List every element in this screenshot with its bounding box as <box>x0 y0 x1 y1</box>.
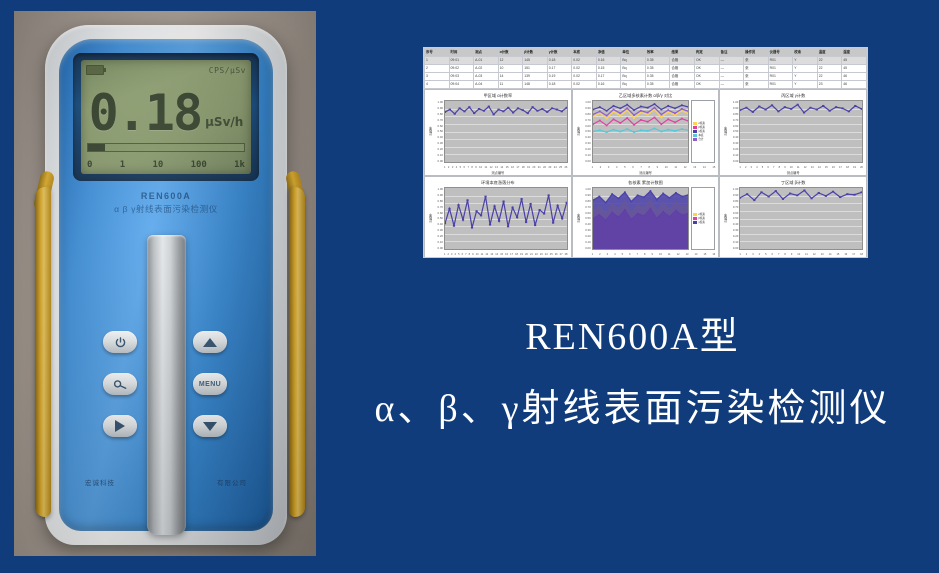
lcd-scale-tick: 1k <box>234 160 245 170</box>
x-tick: 16 <box>505 253 508 256</box>
chart-x-axis-label: 测点编号 <box>720 257 866 258</box>
x-tick: 11 <box>805 253 808 256</box>
y-tick: 0.20 <box>433 147 443 151</box>
legend-item: α核素 <box>693 122 713 125</box>
table-header-cell: 温度 <box>817 49 842 57</box>
x-tick: 7 <box>773 166 774 169</box>
table-cell: 22 <box>817 65 842 73</box>
table-cell: 0.02 <box>572 57 597 65</box>
y-tick: 0.10 <box>433 153 443 157</box>
x-tick: 10 <box>659 253 662 256</box>
x-tick: 20 <box>532 166 535 169</box>
table-cell: Bq <box>621 73 646 81</box>
table-cell: 09:03 <box>449 73 474 81</box>
y-tick: 0.40 <box>433 222 443 226</box>
chart-plot-area <box>739 187 863 250</box>
x-tick: 18 <box>860 253 863 256</box>
chart-panel[interactable]: 甲区域 α计数率计数率1.000.900.800.700.600.500.400… <box>424 89 572 176</box>
table-header-cell: 测点 <box>474 49 499 57</box>
triangle-down-icon <box>203 422 217 431</box>
table-cell: 合格 <box>670 81 695 89</box>
y-tick: 0.60 <box>433 211 443 215</box>
lcd-mode-text: CPS/μSv <box>209 66 246 75</box>
x-tick: 9 <box>657 166 658 169</box>
table-cell: 3 <box>425 73 450 81</box>
y-tick: 0.90 <box>728 106 738 110</box>
table-cell: 23 <box>817 81 842 89</box>
table-cell: 139 <box>523 73 548 81</box>
y-tick: 0.50 <box>581 216 591 220</box>
table-header-cell: 净值 <box>596 49 621 57</box>
lcd-unit: μSv/h <box>205 115 243 129</box>
device-model-area: REN600A α β γ射线表面污染检测仪 <box>59 191 273 215</box>
lcd-reading: 0.18 μSv/h <box>81 82 251 144</box>
x-tick: 15 <box>703 253 706 256</box>
chart-y-axis-label: 计数率 <box>723 100 728 163</box>
page-title: REN600A型 <box>330 318 935 356</box>
chart-y-axis-label: 计数率 <box>723 187 728 250</box>
product-photo: CPS/μSv 0.18 μSv/h 01101001k REN600A α β… <box>14 11 316 556</box>
chart-x-axis-label: 测点编号 <box>573 170 719 175</box>
x-tick: 11 <box>797 166 800 169</box>
chart-series-svg <box>740 101 862 162</box>
y-tick: 0.30 <box>728 228 738 232</box>
legend-label: α核素 <box>698 213 705 216</box>
x-tick: 14 <box>695 253 698 256</box>
table-cell: A-04 <box>474 81 499 89</box>
table-header-cell: 本底 <box>572 49 597 57</box>
y-tick: 0.10 <box>581 153 591 157</box>
table-cell: 0.35 <box>645 73 670 81</box>
table-cell: 0.35 <box>645 57 670 65</box>
x-tick: 3 <box>752 253 753 256</box>
up-button[interactable] <box>193 331 227 353</box>
x-tick: 17 <box>516 166 519 169</box>
x-tick: 24 <box>545 253 548 256</box>
chart-title: 各核素 累加计数图 <box>576 180 716 186</box>
table-cell: A-03 <box>474 73 499 81</box>
x-tick: 22 <box>535 253 538 256</box>
legend-swatch <box>693 126 697 129</box>
x-tick: 11 <box>674 166 677 169</box>
x-tick: 19 <box>527 166 530 169</box>
table-cell: 张 <box>744 65 769 73</box>
device-faceplate: CPS/μSv 0.18 μSv/h 01101001k REN600A α β… <box>59 39 273 531</box>
x-tick: 14 <box>495 253 498 256</box>
lcd-screen: CPS/μSv 0.18 μSv/h 01101001k <box>81 60 251 174</box>
brand-left-text: 宏诚科技 <box>85 477 115 487</box>
report-screenshot-panel: 序号时间测点α计数β计数γ计数本底净值单位效率结果判定备注操作员仪器号校准温度湿… <box>423 47 868 258</box>
x-tick: 18 <box>522 166 525 169</box>
table-row[interactable]: 209:02A-02101510.170.020.15Bq0.35合格OK—张R… <box>425 65 867 73</box>
table-cell: 0.02 <box>572 81 597 89</box>
y-tick: 0.40 <box>581 135 591 139</box>
chart-y-axis-label: 计数率 <box>428 100 433 163</box>
legend-swatch <box>693 217 697 220</box>
y-tick: 0.00 <box>433 159 443 163</box>
legend-label: β核素 <box>698 126 705 129</box>
legend-swatch <box>693 134 697 137</box>
chart-body: 计数率1.000.900.800.700.600.500.400.300.200… <box>428 100 568 163</box>
x-tick: 2 <box>448 166 449 169</box>
x-tick: 10 <box>665 166 668 169</box>
y-tick: 0.30 <box>728 141 738 145</box>
x-tick: 4 <box>759 253 760 256</box>
table-cell: 148 <box>523 81 548 89</box>
chart-panel[interactable]: 环境本底涨落分布计数率1.000.900.800.700.600.500.400… <box>424 176 572 258</box>
table-cell: 合格 <box>670 57 695 65</box>
table-row[interactable]: 309:03A-03141390.190.020.17Bq0.35合格OK—张R… <box>425 73 867 81</box>
x-tick: 2 <box>745 166 746 169</box>
table-cell: 4 <box>425 81 450 89</box>
x-tick: 2 <box>600 166 601 169</box>
lcd-scale-tick: 10 <box>152 160 163 170</box>
x-tick: 5 <box>622 253 623 256</box>
x-tick: 25 <box>559 166 562 169</box>
table-cell: R01 <box>768 81 793 89</box>
chart-plot-area <box>444 187 568 250</box>
legend-label: β核素 <box>698 217 705 220</box>
table-cell: 0.16 <box>596 81 621 89</box>
legend-swatch <box>693 138 697 141</box>
table-cell: 张 <box>744 73 769 81</box>
x-tick: 14 <box>500 166 503 169</box>
x-tick: 1 <box>444 253 445 256</box>
triangle-right-icon <box>115 420 125 432</box>
table-cell: 0.17 <box>547 65 572 73</box>
x-tick: 1 <box>444 166 445 169</box>
table-cell: 张 <box>744 81 769 89</box>
y-tick: 0.90 <box>581 106 591 110</box>
chart-y-axis-label: 计数率 <box>428 187 433 250</box>
table-cell: 45 <box>842 65 867 73</box>
y-tick: 0.00 <box>433 246 443 250</box>
x-tick: 13 <box>490 253 493 256</box>
table-header-cell: 仪器号 <box>768 49 793 57</box>
y-tick: 0.50 <box>433 129 443 133</box>
magnifier-icon <box>113 378 128 391</box>
table-row[interactable]: 109:01A-01121450.180.020.16Bq0.35合格OK—张R… <box>425 57 867 65</box>
device-model-description: α β γ射线表面污染检测仪 <box>59 203 273 215</box>
chart-plot-area <box>444 100 568 163</box>
lcd-status-bar: CPS/μSv <box>86 64 246 76</box>
table-cell: 09:01 <box>449 57 474 65</box>
x-tick: 17 <box>839 166 842 169</box>
x-tick: 26 <box>555 253 558 256</box>
chart-panel[interactable]: 各核素 累加计数图计数率1.000.900.800.700.600.500.40… <box>572 176 720 258</box>
y-tick: 0.80 <box>581 112 591 116</box>
x-tick: 24 <box>554 166 557 169</box>
search-button[interactable] <box>103 373 137 395</box>
y-tick: 0.20 <box>581 234 591 238</box>
title-block: REN600A型 α、β、γ射线表面污染检测仪 <box>330 318 935 428</box>
x-tick: 22 <box>543 166 546 169</box>
x-tick: 3 <box>607 253 608 256</box>
y-tick: 1.00 <box>728 100 738 104</box>
y-tick: 0.00 <box>728 159 738 163</box>
y-tick: 1.00 <box>433 100 443 104</box>
table-cell: 22 <box>817 73 842 81</box>
table-row[interactable]: 409:04A-04111480.180.020.16Bq0.35合格OK—张R… <box>425 81 867 89</box>
table-cell: A-02 <box>474 65 499 73</box>
table-cell: 10 <box>498 65 523 73</box>
x-tick: 3 <box>452 166 453 169</box>
chart-y-axis-label: 计数率 <box>576 187 581 250</box>
chart-body: 计数率1.000.900.800.700.600.500.400.300.200… <box>576 100 716 163</box>
chart-panel[interactable]: 丙区域 γ计数计数率1.000.900.800.700.600.500.400.… <box>719 89 867 176</box>
x-tick: 13 <box>821 253 824 256</box>
y-tick: 0.10 <box>728 240 738 244</box>
x-tick: 9 <box>791 253 792 256</box>
legend-label: α核素 <box>698 122 705 125</box>
x-tick: 10 <box>476 253 479 256</box>
chart-title: 丁区域 β计数 <box>723 180 863 186</box>
x-tick: 17 <box>852 253 855 256</box>
legend-item: 合计 <box>693 138 713 141</box>
y-tick: 0.00 <box>581 159 591 163</box>
legend-label: 本底 <box>698 134 703 137</box>
y-tick: 0.00 <box>728 246 738 250</box>
table-cell: A-01 <box>474 57 499 65</box>
table-cell: Y <box>793 57 818 65</box>
legend-label: 合计 <box>698 138 703 141</box>
y-tick: 0.50 <box>433 216 443 220</box>
x-tick: 12 <box>485 253 488 256</box>
y-tick: 0.30 <box>581 141 591 145</box>
x-tick: 9 <box>652 253 653 256</box>
x-tick: 8 <box>471 166 472 169</box>
x-tick: 2 <box>599 253 600 256</box>
lcd-scale-tick: 100 <box>191 160 207 170</box>
table-cell: 0.18 <box>547 81 572 89</box>
chart-body: 计数率1.000.900.800.700.600.500.400.300.200… <box>428 187 568 250</box>
table-cell: 45 <box>842 57 867 65</box>
chart-y-ticks: 1.000.900.800.700.600.500.400.300.200.10… <box>433 187 444 250</box>
table-header-cell: 单位 <box>621 49 646 57</box>
table-header-cell: γ计数 <box>547 49 572 57</box>
x-tick: 6 <box>462 253 463 256</box>
table-cell: 0.19 <box>547 73 572 81</box>
y-tick: 0.90 <box>433 106 443 110</box>
x-tick: 13 <box>686 253 689 256</box>
chart-series-svg <box>445 101 567 162</box>
x-tick: 15 <box>825 166 828 169</box>
table-cell: OK <box>695 65 720 73</box>
y-tick: 0.10 <box>728 153 738 157</box>
y-tick: 0.30 <box>433 228 443 232</box>
table-cell: 0.35 <box>645 65 670 73</box>
table-cell: 0.17 <box>596 73 621 81</box>
y-tick: 0.10 <box>433 240 443 244</box>
table-cell: 0.35 <box>645 81 670 89</box>
menu-button-label: MENU <box>199 381 221 388</box>
table-header-cell: 结果 <box>670 49 695 57</box>
y-tick: 0.70 <box>433 205 443 209</box>
x-tick: 10 <box>479 166 482 169</box>
lcd-bargraph-fill <box>88 144 105 151</box>
chart-panel[interactable]: 乙区域多核素计数 α/β/γ 对比计数率1.000.900.800.700.60… <box>572 89 720 176</box>
x-tick: 21 <box>530 253 533 256</box>
table-cell: 1 <box>425 57 450 65</box>
y-tick: 1.00 <box>581 187 591 191</box>
table-cell: — <box>719 73 744 81</box>
x-tick: 8 <box>469 253 470 256</box>
table-cell: — <box>719 81 744 89</box>
x-tick: 6 <box>629 253 630 256</box>
chart-title: 乙区域多核素计数 α/β/γ 对比 <box>576 93 716 99</box>
table-cell: 46 <box>842 81 867 89</box>
lcd-scale-tick: 0 <box>87 160 92 170</box>
x-tick: 11 <box>485 166 488 169</box>
x-tick: 1 <box>592 253 593 256</box>
x-tick: 23 <box>540 253 543 256</box>
x-tick: 18 <box>515 253 518 256</box>
chart-y-axis-label: 计数率 <box>576 100 581 163</box>
menu-button[interactable]: MENU <box>193 373 227 395</box>
y-tick: 0.80 <box>728 112 738 116</box>
x-tick: 15 <box>712 166 715 169</box>
table-cell: 14 <box>498 73 523 81</box>
table-cell: 合格 <box>670 73 695 81</box>
x-tick: 5 <box>762 166 763 169</box>
x-tick: 12 <box>677 253 680 256</box>
table-cell: 张 <box>744 57 769 65</box>
chart-x-axis-label: 测点编号 <box>425 170 571 175</box>
x-tick: 7 <box>637 253 638 256</box>
x-tick: 8 <box>649 166 650 169</box>
table-header-cell: 判定 <box>695 49 720 57</box>
table-header-cell: 操作员 <box>744 49 769 57</box>
table-cell: Y <box>793 65 818 73</box>
x-tick: 13 <box>811 166 814 169</box>
x-tick: 9 <box>472 253 473 256</box>
y-tick: 0.20 <box>581 147 591 151</box>
chart-series-svg <box>593 188 689 249</box>
table-cell: 0.18 <box>547 57 572 65</box>
chart-y-ticks: 1.000.900.800.700.600.500.400.300.200.10… <box>728 100 739 163</box>
y-tick: 0.60 <box>728 124 738 128</box>
legend-item: 本底 <box>693 134 713 137</box>
table-header-cell: β计数 <box>523 49 548 57</box>
x-tick: 11 <box>481 253 484 256</box>
device-grip-right <box>289 187 305 517</box>
triangle-up-icon <box>203 338 217 347</box>
chart-plot-area <box>592 187 690 250</box>
chart-y-ticks: 1.000.900.800.700.600.500.400.300.200.10… <box>581 100 592 163</box>
y-tick: 0.90 <box>581 193 591 197</box>
x-tick: 1 <box>739 166 740 169</box>
x-tick: 3 <box>608 166 609 169</box>
y-tick: 1.00 <box>728 187 738 191</box>
chart-panel[interactable]: 丁区域 β计数计数率1.000.900.800.700.600.500.400.… <box>719 176 867 258</box>
chart-x-ticks: 1234567891011121314151617181920 <box>739 166 863 169</box>
y-tick: 0.80 <box>433 199 443 203</box>
x-tick: 12 <box>813 253 816 256</box>
brand-right-text: 有限公司 <box>217 477 247 487</box>
table-header-row: 序号时间测点α计数β计数γ计数本底净值单位效率结果判定备注操作员仪器号校准温度湿… <box>425 49 867 57</box>
table-cell: 0.02 <box>572 65 597 73</box>
x-tick: 10 <box>797 253 800 256</box>
y-tick: 0.60 <box>433 124 443 128</box>
x-tick: 25 <box>550 253 553 256</box>
table-cell: 合格 <box>670 65 695 73</box>
x-tick: 3 <box>451 253 452 256</box>
x-tick: 15 <box>500 253 503 256</box>
y-tick: 0.70 <box>433 118 443 122</box>
chart-x-ticks: 1234567891011121314151617181920212223242… <box>444 166 568 169</box>
table-cell: OK <box>695 57 720 65</box>
y-tick: 0.40 <box>433 135 443 139</box>
y-tick: 0.20 <box>728 147 738 151</box>
chart-body: 计数率1.000.900.800.700.600.500.400.300.200… <box>723 187 863 250</box>
lcd-scale: 01101001k <box>87 160 245 170</box>
table-cell: 151 <box>523 65 548 73</box>
y-tick: 0.40 <box>728 222 738 226</box>
y-tick: 1.00 <box>581 100 591 104</box>
x-tick: 8 <box>784 253 785 256</box>
chart-x-axis-label: 测点编号 <box>573 257 719 258</box>
y-tick: 0.90 <box>728 193 738 197</box>
x-tick: 20 <box>525 253 528 256</box>
legend-swatch <box>693 221 697 224</box>
legend-swatch <box>693 122 697 125</box>
legend-item: α核素 <box>693 213 713 216</box>
chart-series-svg <box>593 101 689 162</box>
x-tick: 8 <box>644 253 645 256</box>
chart-legend: α核素β核素γ核素 <box>691 187 715 250</box>
down-button[interactable] <box>193 415 227 437</box>
play-button[interactable] <box>103 415 137 437</box>
x-tick: 7 <box>465 253 466 256</box>
y-tick: 0.70 <box>728 118 738 122</box>
x-tick: 18 <box>846 166 849 169</box>
x-tick: 12 <box>684 166 687 169</box>
x-tick: 2 <box>448 253 449 256</box>
y-tick: 0.40 <box>728 135 738 139</box>
x-tick: 12 <box>490 166 493 169</box>
device-center-strip <box>147 235 186 535</box>
y-tick: 0.60 <box>728 211 738 215</box>
x-tick: 6 <box>772 253 773 256</box>
table-header-cell: 备注 <box>719 49 744 57</box>
y-tick: 0.50 <box>728 216 738 220</box>
chart-y-ticks: 1.000.900.800.700.600.500.400.300.200.10… <box>433 100 444 163</box>
x-tick: 16 <box>511 166 514 169</box>
chart-x-ticks: 12345678910111213141516 <box>592 253 716 256</box>
x-tick: 20 <box>860 166 863 169</box>
table-header-cell: 效率 <box>645 49 670 57</box>
y-tick: 0.90 <box>433 193 443 197</box>
x-tick: 14 <box>703 166 706 169</box>
table-cell: 12 <box>498 57 523 65</box>
x-tick: 14 <box>818 166 821 169</box>
device-grip-left <box>35 187 51 517</box>
y-tick: 0.50 <box>728 129 738 133</box>
table-cell: 0.16 <box>596 57 621 65</box>
x-tick: 23 <box>548 166 551 169</box>
y-tick: 0.50 <box>581 129 591 133</box>
power-button[interactable] <box>103 331 137 353</box>
power-icon <box>114 336 127 349</box>
chart-y-ticks: 1.000.900.800.700.600.500.400.300.200.10… <box>728 187 739 250</box>
legend-item: γ核素 <box>693 130 713 133</box>
lcd-bargraph <box>87 143 245 152</box>
y-tick: 0.60 <box>581 211 591 215</box>
chart-title: 甲区域 α计数率 <box>428 93 568 99</box>
y-tick: 0.70 <box>581 118 591 122</box>
legend-item: β核素 <box>693 217 713 220</box>
legend-swatch <box>693 130 697 133</box>
